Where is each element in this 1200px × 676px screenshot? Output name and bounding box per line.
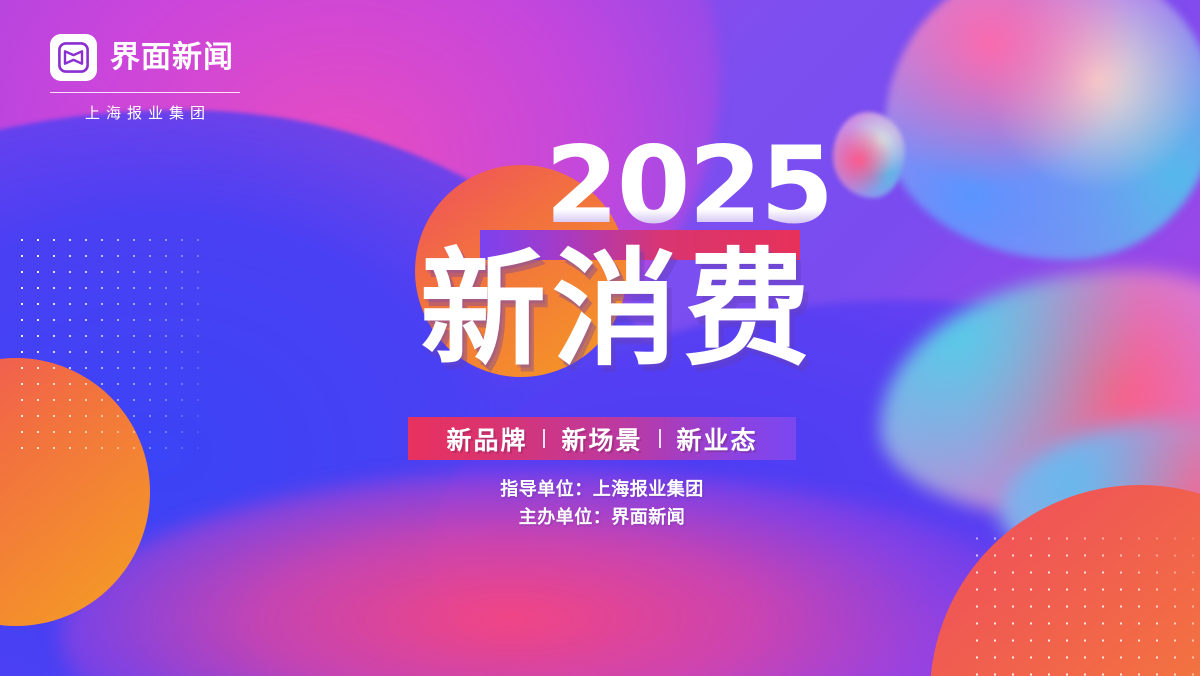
tagline-item-2: 新场景 [545,421,658,457]
dot-grid-right-icon [968,530,1200,676]
credit-line-organizer: 主办单位：界面新闻 [408,504,796,532]
brand-logo-row: 界面新闻 [50,34,240,81]
dot-grid-left-icon [14,232,210,462]
tagline-item-3: 新业态 [661,421,774,457]
hero-credits: 指导单位：上海报业集团 主办单位：界面新闻 [408,476,796,532]
iridescent-blob-icon [885,0,1200,260]
tagline-item-1: 新品牌 [430,421,543,457]
credit-line-guidance: 指导单位：上海报业集团 [408,476,796,504]
hero-year: 2025 [545,133,832,239]
hero-tagline-bar: 新品牌 新场景 新业态 [408,417,796,460]
iridescent-blob-small-icon [833,112,905,198]
brand-name: 界面新闻 [110,43,234,73]
brand-logo[interactable]: 界面新闻 上海报业集团 [50,34,240,123]
hero-headline: 新消费 [420,236,816,385]
brand-group-name: 上海报业集团 [50,102,240,123]
jiemian-screen-icon [50,34,97,81]
poster-canvas: 界面新闻 上海报业集团 2025 新消费 新品牌 新场景 新业态 指导单位：上海… [0,0,1200,676]
brand-divider [50,92,240,93]
